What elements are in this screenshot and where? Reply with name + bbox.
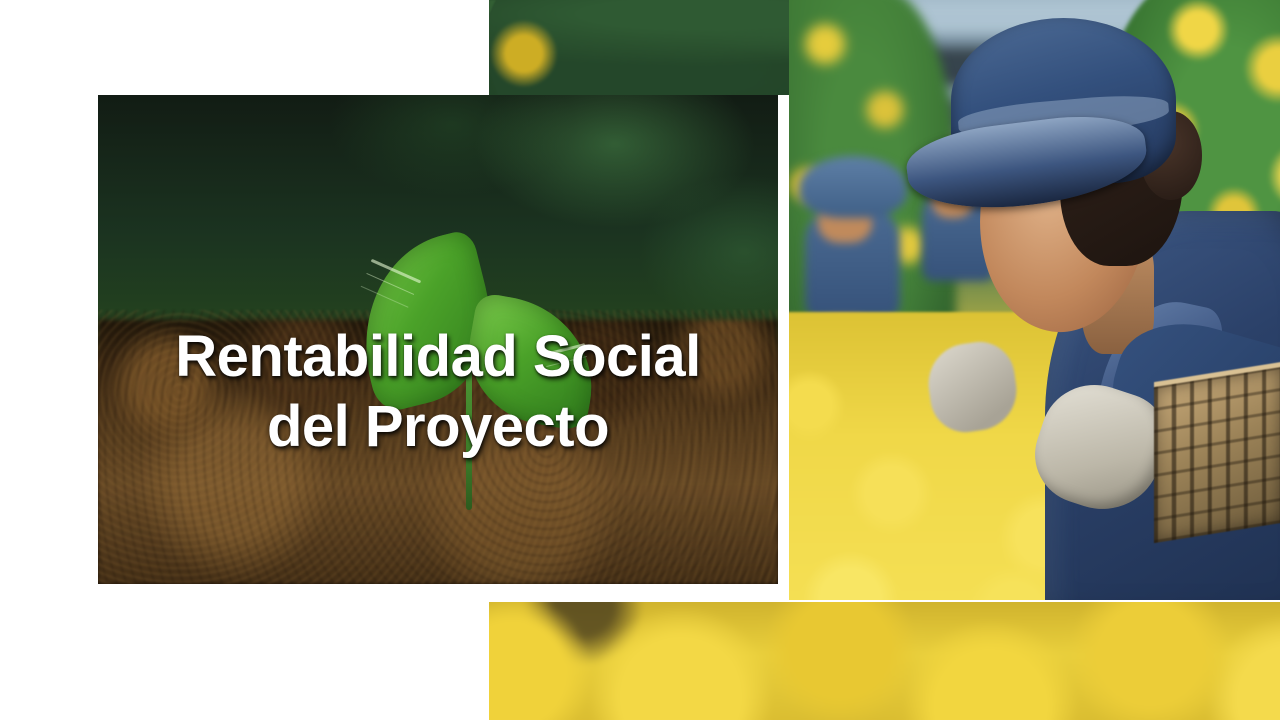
plastic-crate <box>1154 362 1280 543</box>
worker-hat <box>799 156 907 218</box>
title-line-2: del Proyecto <box>98 392 778 462</box>
slide-canvas: Rentabilidad Socialdel Proyecto <box>0 0 1280 720</box>
title-card: Rentabilidad Socialdel Proyecto <box>98 95 778 584</box>
page-title: Rentabilidad Socialdel Proyecto <box>98 322 778 462</box>
lemon-pile-texture <box>489 602 1280 720</box>
leaf-vein <box>371 259 421 284</box>
title-line-1: Rentabilidad Social <box>175 324 701 389</box>
crate-slats <box>1154 367 1280 543</box>
background-worker-1 <box>799 156 907 312</box>
photo-lemon-closeup <box>489 602 1280 720</box>
worker-glove-left <box>923 338 1022 438</box>
photo-lemon-packing-worker <box>789 0 1280 600</box>
